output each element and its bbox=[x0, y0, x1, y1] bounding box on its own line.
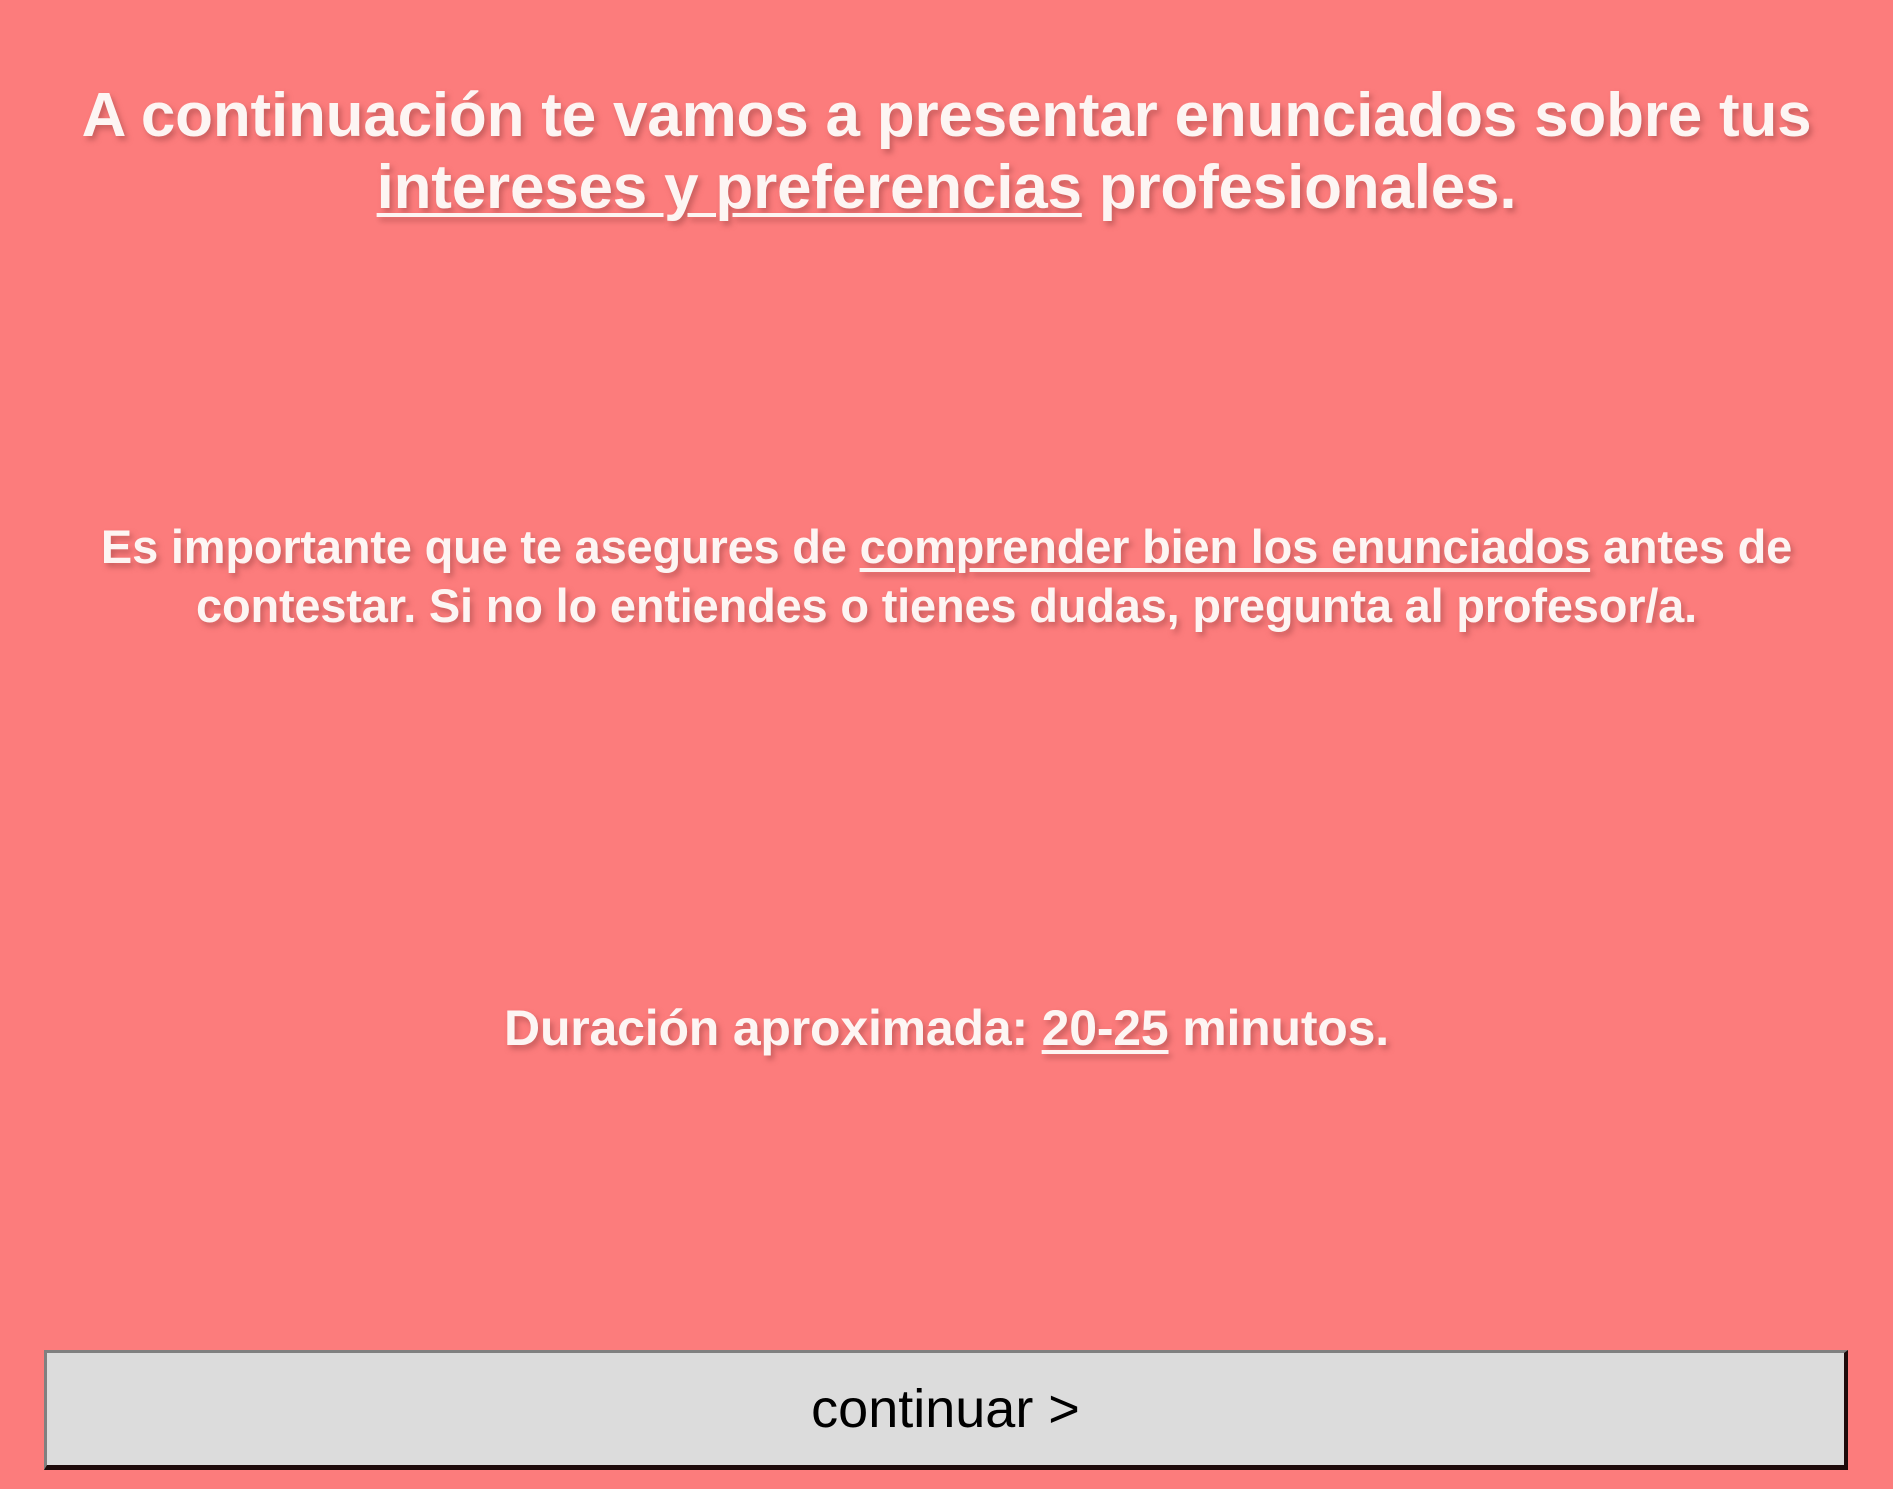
questionnaire-intro-screen: A continuación te vamos a presentar enun… bbox=[0, 0, 1893, 1489]
comprehension-note-text-before: Es importante que te asegures de bbox=[101, 520, 860, 573]
comprehension-note-emphasis: comprender bien los enunciados bbox=[860, 520, 1591, 573]
duration-note-text-before: Duración aproximada: bbox=[504, 1000, 1042, 1056]
duration-note-emphasis: 20-25 bbox=[1042, 1000, 1169, 1056]
intro-heading-text-before: A continuación te vamos a presentar enun… bbox=[82, 81, 1812, 150]
comprehension-note: Es importante que te asegures de compren… bbox=[0, 517, 1893, 635]
continue-button-label: continuar > bbox=[811, 1382, 1080, 1436]
duration-note: Duración aproximada: 20-25 minutos. bbox=[0, 998, 1893, 1058]
duration-note-text-after: minutos. bbox=[1169, 1000, 1389, 1056]
continue-button[interactable]: continuar > bbox=[44, 1350, 1848, 1470]
intro-heading: A continuación te vamos a presentar enun… bbox=[0, 80, 1893, 224]
intro-heading-text-after: profesionales. bbox=[1082, 153, 1517, 222]
intro-heading-emphasis: intereses y preferencias bbox=[377, 153, 1082, 222]
